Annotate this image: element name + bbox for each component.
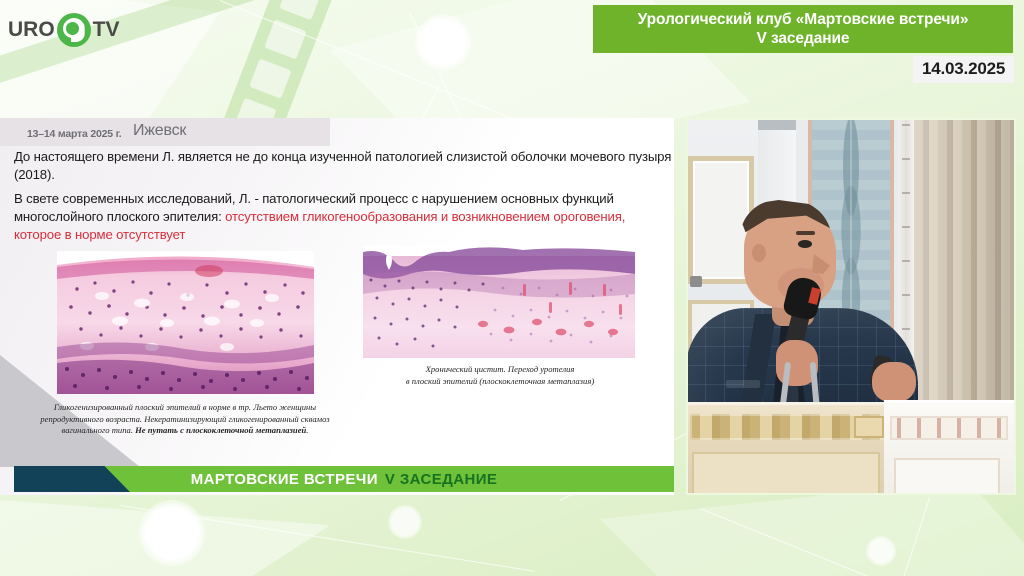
histology-left-caption: Гликогенизированный плоский эпителий в н… [30,402,340,437]
speaker-ear [752,244,766,262]
caption-line: вагинального типа. [62,425,136,435]
logo-text-right: TV [93,18,120,42]
speaker-eyebrow [796,231,815,235]
slide-footer-ribbon: МАРТОВСКИЕ ВСТРЕЧИ V ЗАСЕДАНИЕ [14,466,674,492]
bg-line [873,498,930,576]
slide-event-city: Ижевск [133,122,186,140]
urotv-leaf-icon [57,13,91,47]
caption-line: Гликогенизированный плоский эпителий в [54,402,207,412]
event-title-banner: Урологический клуб «Мартовские встречи» … [593,5,1013,53]
podium-side-ornament [890,416,1008,440]
event-title-line2: V заседание [757,29,850,48]
event-title-line1: Урологический клуб «Мартовские встречи» [638,10,969,29]
bg-node-circle [388,505,422,539]
wall-socket [690,276,702,287]
bg-node-circle [415,14,471,70]
speaker-jacket-pocket [726,380,760,388]
caption-line-bold: Не путать с плоскоклеточной [135,425,253,435]
histology-right-canvas [363,246,635,358]
bg-polygon [0,500,330,576]
curtain-shading [914,118,1016,448]
histology-right-caption: Хронический цистит. Переход уротелия в п… [355,364,645,387]
speaker-hand-right [872,362,916,402]
caption-line: Некератинизирующий гликогенированный скв… [144,414,329,424]
bg-line [120,505,535,572]
podium-panel-inset [854,416,884,438]
ribbon-text-primary: МАРТОВСКИЕ ВСТРЕЧИ [191,471,378,488]
urotv-logo: URO TV [8,8,120,52]
histology-image-right [363,246,635,358]
podium-lower-panel [692,452,880,495]
logo-text-left: URO [8,18,55,42]
slide-paragraph-1: До настоящего времени Л. является не до … [14,148,674,184]
podium-side-lower-panel [894,458,1000,495]
caption-line: в плоский эпителий (плоскоклеточная мета… [406,376,594,386]
speaker-video-panel[interactable] [686,118,1016,495]
speaker-eye [798,240,812,248]
histology-left-canvas [57,251,314,394]
broadcast-stage: URO TV Урологический клуб «Мартовские вс… [0,0,1024,576]
caption-line: . [306,425,308,435]
caption-line: Хронический цистит. Переход уротелия [426,364,575,374]
slide-event-date: 13–14 марта 2025 г. [27,128,121,140]
histology-image-left [57,251,314,394]
event-date-badge: 14.03.2025 [913,56,1014,83]
ribbon-text-secondary: V ЗАСЕДАНИЕ [385,471,497,488]
bg-node-circle [139,500,205,566]
paragraph-1-run-1: До настоящего времени Л. является не до … [14,149,671,182]
caption-line-bold: метаплазией [256,425,307,435]
bg-line [700,508,1006,576]
bg-node-circle [866,536,896,566]
slide-paragraph-2: В свете современных исследований, Л. - п… [14,190,674,244]
